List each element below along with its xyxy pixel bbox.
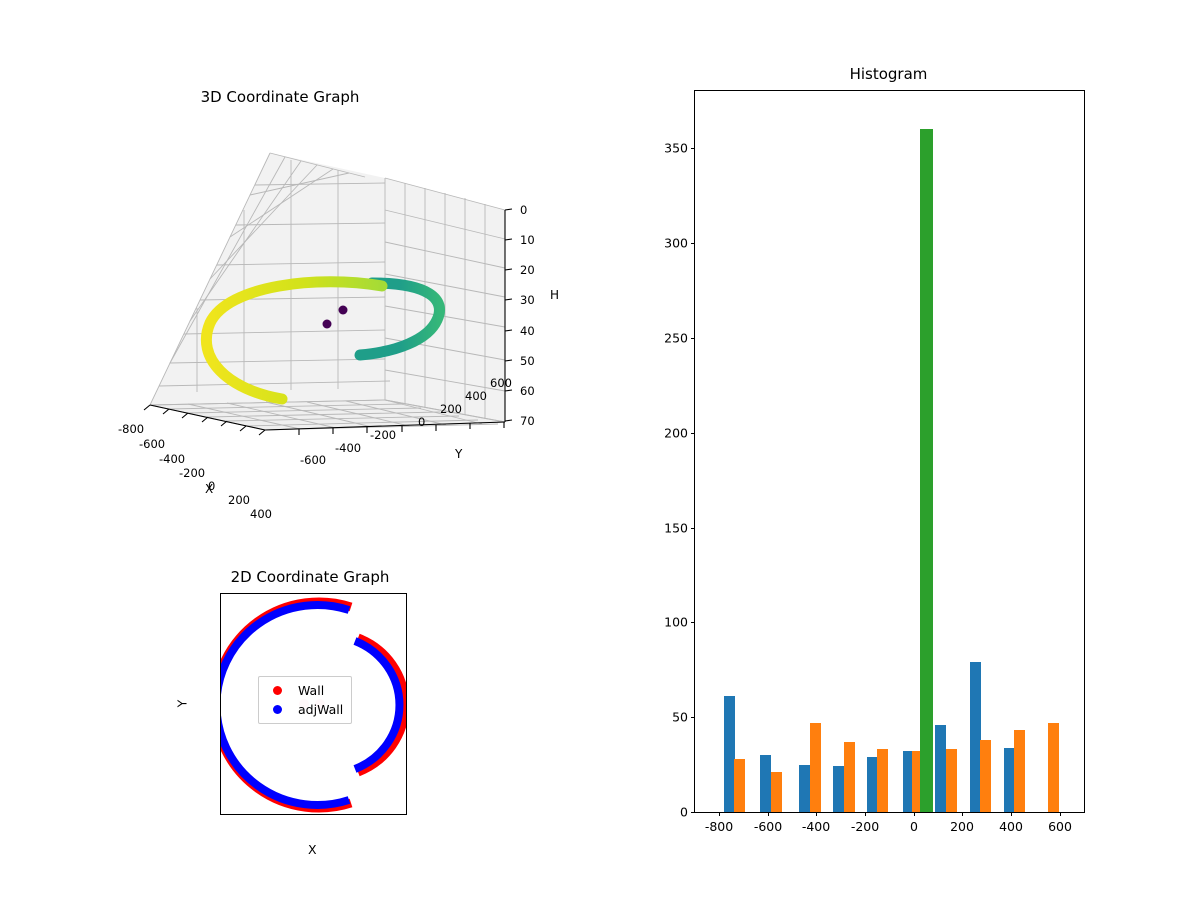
plot2d-ytickmark-1 xyxy=(220,668,221,669)
plot3d-xtick-2: -400 xyxy=(159,452,185,466)
hist-xtickmark-4 xyxy=(914,812,915,816)
hist-xtick-0: -800 xyxy=(705,819,733,834)
hist-xtickmark-5 xyxy=(962,812,963,816)
axes3d-panes xyxy=(150,153,505,430)
plot3d-ztick-2: 20 xyxy=(520,263,535,277)
plot2d-ytickmark-2 xyxy=(220,704,221,705)
legend-label-wall: Wall xyxy=(298,683,324,698)
hist-ytick-0: 0 xyxy=(680,805,688,820)
plot3d-ztick-1: 10 xyxy=(520,233,535,247)
legend-entry-wall[interactable]: Wall xyxy=(267,681,343,700)
hist-xtick-6: 400 xyxy=(999,819,1023,834)
histogram-bar xyxy=(724,696,735,812)
histogram-bar xyxy=(771,772,782,812)
legend-label-adjwall: adjWall xyxy=(298,702,343,717)
histogram-bar xyxy=(799,765,810,812)
plot3d-xtick-6: 400 xyxy=(250,507,272,521)
hist-xtick-1: -600 xyxy=(754,819,782,834)
histogram-bar xyxy=(877,749,888,812)
hist-xtick-5: 200 xyxy=(950,819,974,834)
histogram-bar xyxy=(1048,723,1059,812)
plot3d-ztick-3: 30 xyxy=(520,293,535,307)
plot3d-zlabel: H xyxy=(550,288,559,302)
histogram-bar xyxy=(946,749,957,812)
hist-xtickmark-6 xyxy=(1011,812,1012,816)
histogram-bars xyxy=(695,91,1084,812)
hist-xtick-7: 600 xyxy=(1048,819,1072,834)
plot2d-xtickmark-0 xyxy=(283,814,284,815)
plot2d-ytickmark-4 xyxy=(220,776,221,777)
plot3d-ytick-4: 200 xyxy=(440,402,462,416)
legend-marker-wall xyxy=(273,686,282,695)
legend-entry-adjwall[interactable]: adjWall xyxy=(267,700,343,719)
plot3d-xtick-1: -600 xyxy=(139,437,165,451)
histogram-axes: 0 50 100 150 200 250 300 350 -800 -600 -… xyxy=(694,90,1085,813)
hist-ytick-2: 100 xyxy=(664,615,688,630)
plot3d-ztick-5: 50 xyxy=(520,354,535,368)
legend-marker-adjwall xyxy=(273,705,282,714)
hist-ytick-4: 200 xyxy=(664,426,688,441)
plot3d-ytick-6: 600 xyxy=(490,376,512,390)
hist-xtick-4: 0 xyxy=(910,819,918,834)
plot-2d-axes: 500 250 0 -250 -500 -500 0 Wall adjWall xyxy=(220,593,407,815)
histogram-bar xyxy=(760,755,771,812)
histogram-bar xyxy=(935,725,946,812)
hist-xtickmark-7 xyxy=(1060,812,1061,816)
plot3d-xlabel: X xyxy=(205,482,213,496)
hist-xtickmark-3 xyxy=(865,812,866,816)
plot-2d-coordinate-graph: 2D Coordinate Graph xyxy=(180,560,440,860)
plot-histogram: Histogram 0 50 100 150 200 250 300 350 xyxy=(640,55,1100,855)
histogram-bar xyxy=(1014,730,1025,812)
plot-3d-coordinate-graph: 3D Coordinate Graph xyxy=(110,70,580,520)
plot3d-ztick-7: 70 xyxy=(520,414,535,428)
hist-xtickmark-0 xyxy=(719,812,720,816)
hist-ytick-5: 250 xyxy=(664,331,688,346)
plot3d-xtick-3: -200 xyxy=(179,466,205,480)
matplotlib-figure: 3D Coordinate Graph xyxy=(0,0,1200,900)
hist-xtickmark-1 xyxy=(768,812,769,816)
histogram-bar xyxy=(980,740,991,812)
plot3d-xtick-0: -800 xyxy=(118,422,144,436)
hist-ytick-1: 50 xyxy=(672,710,688,725)
plot2d-ylabel: Y xyxy=(174,700,189,708)
plot3d-ytick-2: -200 xyxy=(370,428,396,442)
point-3d-1 xyxy=(339,306,348,315)
hist-xtick-2: -400 xyxy=(802,819,830,834)
histogram-bar xyxy=(810,723,821,812)
plot2d-ytickmark-0 xyxy=(220,632,221,633)
hist-ytickmark-0 xyxy=(691,812,695,813)
histogram-bar xyxy=(920,129,933,812)
hist-ytick-3: 150 xyxy=(664,521,688,536)
histogram-title: Histogram xyxy=(694,65,1083,83)
histogram-bar xyxy=(833,766,844,812)
plot2d-ytickmark-3 xyxy=(220,740,221,741)
plot3d-ytick-1: -400 xyxy=(335,441,361,455)
plot3d-ytick-5: 400 xyxy=(465,389,487,403)
plot-2d-legend[interactable]: Wall adjWall xyxy=(258,676,352,724)
hist-xtickmark-2 xyxy=(816,812,817,816)
plot2d-xlabel: X xyxy=(308,842,317,857)
hist-ytick-7: 350 xyxy=(664,141,688,156)
point-3d-2 xyxy=(323,320,332,329)
hist-ytick-6: 300 xyxy=(664,236,688,251)
plot3d-ztick-0: 0 xyxy=(520,203,527,217)
plot3d-ztick-4: 40 xyxy=(520,324,535,338)
plot3d-xtick-5: 200 xyxy=(228,493,250,507)
plot-2d-title: 2D Coordinate Graph xyxy=(180,568,440,586)
plot3d-ytick-0: -600 xyxy=(300,453,326,467)
plot3d-ylabel: Y xyxy=(455,447,462,461)
plot3d-ytick-3: 0 xyxy=(418,415,425,429)
plot3d-ztick-6: 60 xyxy=(520,384,535,398)
histogram-bar xyxy=(844,742,855,812)
plot2d-xtickmark-1 xyxy=(369,814,370,815)
histogram-bar xyxy=(734,759,745,812)
hist-xtick-3: -200 xyxy=(851,819,879,834)
